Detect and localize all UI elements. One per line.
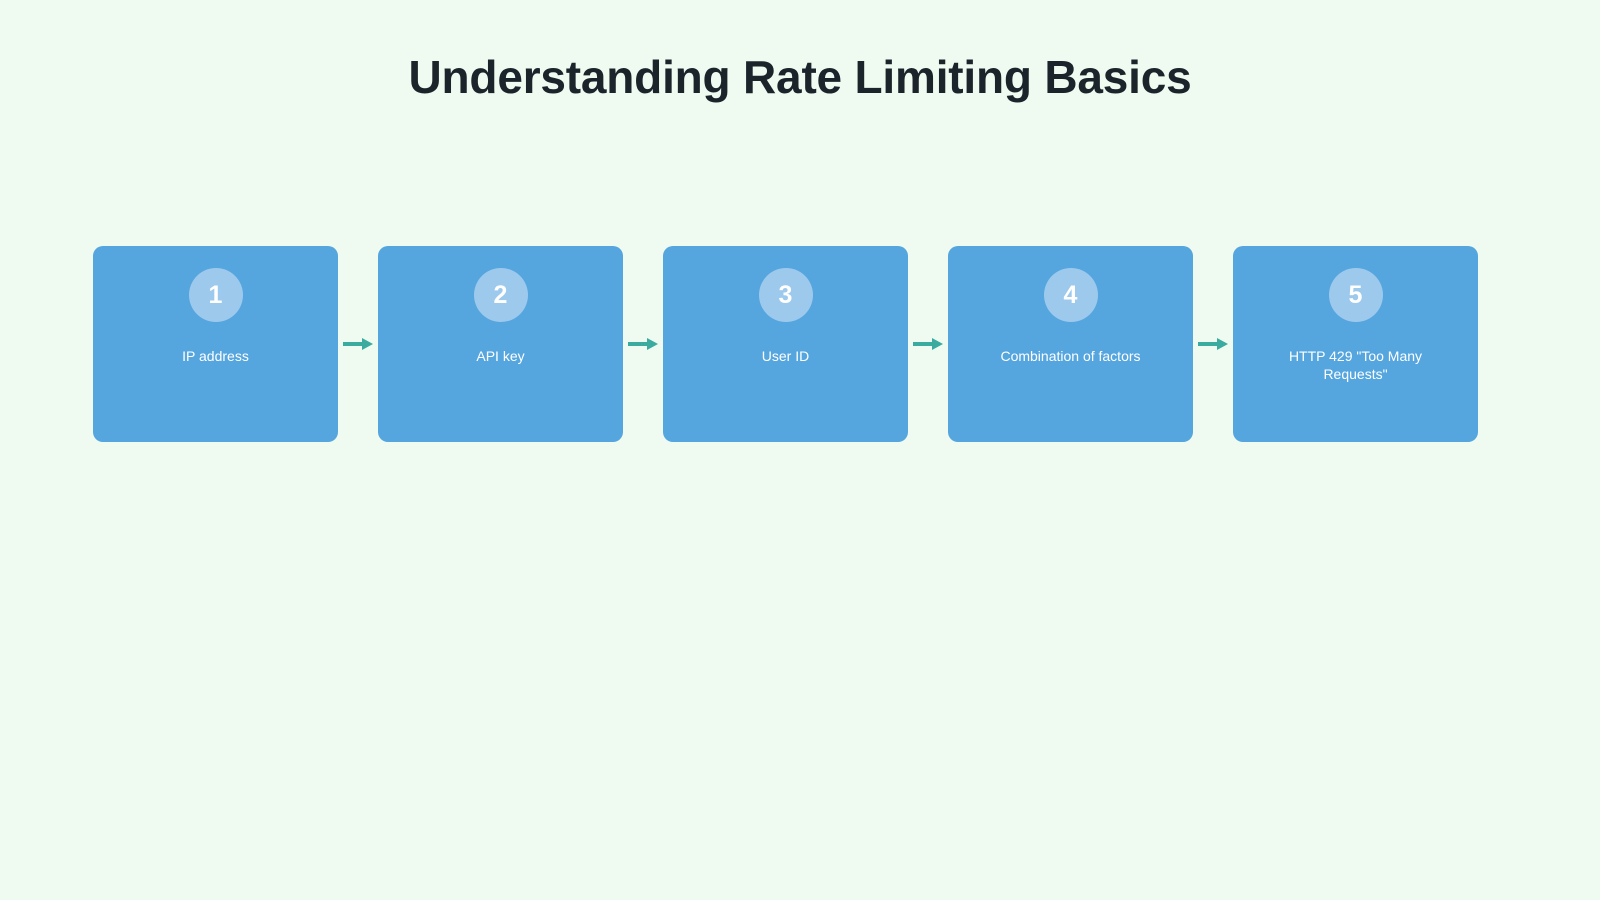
step-label: API key xyxy=(401,347,601,365)
arrow-right-icon xyxy=(913,337,943,351)
step-number-badge: 2 xyxy=(474,268,528,322)
diagram-canvas: Understanding Rate Limiting Basics 1 IP … xyxy=(0,0,1600,900)
flow-steps-row: 1 IP address 2 API key 3 xyxy=(93,246,1507,442)
step-number-label: 5 xyxy=(1349,283,1363,308)
page-title: Understanding Rate Limiting Basics xyxy=(0,52,1600,103)
step-card-5[interactable]: 5 HTTP 429 "Too Many Requests" xyxy=(1233,246,1478,442)
step-card-3[interactable]: 3 User ID xyxy=(663,246,908,442)
arrow-right-icon xyxy=(1198,337,1228,351)
step-label: IP address xyxy=(116,347,316,365)
step-number-label: 4 xyxy=(1064,283,1078,308)
step-label: User ID xyxy=(686,347,886,365)
step-card-4[interactable]: 4 Combination of factors xyxy=(948,246,1193,442)
step-number-label: 3 xyxy=(779,283,793,308)
connector-3-4 xyxy=(908,246,948,442)
step-number-label: 1 xyxy=(209,283,223,308)
step-number-badge: 4 xyxy=(1044,268,1098,322)
step-number-badge: 5 xyxy=(1329,268,1383,322)
connector-4-5 xyxy=(1193,246,1233,442)
arrow-right-icon xyxy=(628,337,658,351)
connector-1-2 xyxy=(338,246,378,442)
step-number-badge: 1 xyxy=(189,268,243,322)
arrow-right-icon xyxy=(343,337,373,351)
step-label: HTTP 429 "Too Many Requests" xyxy=(1256,347,1456,383)
step-number-badge: 3 xyxy=(759,268,813,322)
connector-2-3 xyxy=(623,246,663,442)
step-card-1[interactable]: 1 IP address xyxy=(93,246,338,442)
step-card-2[interactable]: 2 API key xyxy=(378,246,623,442)
step-label: Combination of factors xyxy=(971,347,1171,365)
step-number-label: 2 xyxy=(494,283,508,308)
